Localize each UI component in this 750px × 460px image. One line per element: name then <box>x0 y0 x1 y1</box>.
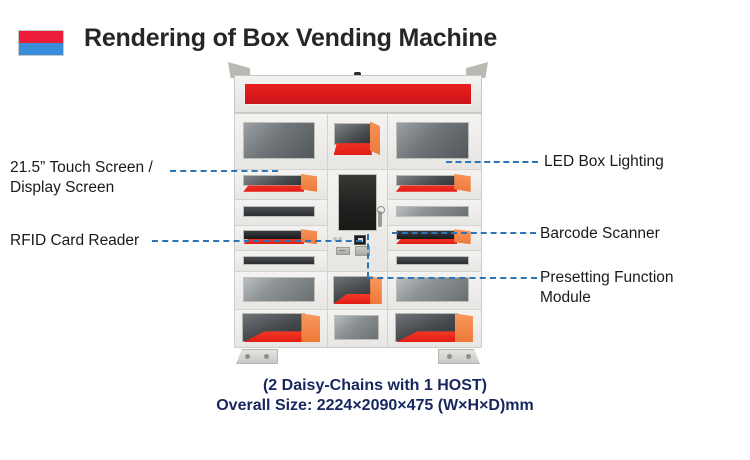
locker-cell <box>388 310 481 347</box>
locker-cell <box>388 251 481 272</box>
leader-line-rfid <box>152 240 362 242</box>
locker-cell <box>235 200 327 226</box>
locker-window <box>396 122 469 159</box>
locker-column-center <box>328 114 387 347</box>
drawer-glass <box>243 230 304 240</box>
drawer-side <box>301 174 317 192</box>
locker-cell <box>235 226 327 252</box>
locker-window <box>243 122 315 159</box>
locker-column-right <box>388 114 481 347</box>
locker-window <box>334 315 379 340</box>
callout-touch-screen: 21.5” Touch Screen / Display Screen <box>10 158 153 198</box>
machine-banner <box>244 83 472 105</box>
drawer-glass <box>396 175 457 187</box>
locker-cell <box>388 226 481 252</box>
locker-cell <box>328 114 386 170</box>
callout-led-box-lighting: LED Box Lighting <box>544 152 664 172</box>
rfid-card-reader-pad[interactable] <box>336 247 350 255</box>
locker-open-box <box>333 276 382 304</box>
leader-line-led <box>446 161 538 163</box>
machine-foot-right <box>438 349 480 364</box>
locker-open-drawer <box>396 175 471 194</box>
locker-cabinet <box>234 113 482 348</box>
leader-line-barcode <box>392 232 536 234</box>
drawer-side <box>370 121 380 155</box>
leader-line-touch-screen <box>170 170 278 172</box>
locker-cell <box>235 251 327 272</box>
box-side <box>370 276 382 304</box>
machine-foot-left <box>236 349 278 364</box>
drawer-tray <box>396 239 457 244</box>
locker-column-left <box>235 114 328 347</box>
callout-rfid-card-reader: RFID Card Reader <box>10 231 139 251</box>
drawer-glass <box>243 175 304 187</box>
drawer-side <box>454 174 470 192</box>
leader-line-presetting <box>367 277 537 279</box>
locker-window <box>243 277 315 302</box>
locker-open-drawer <box>243 175 317 194</box>
drawer-tray <box>243 185 304 191</box>
locker-window <box>396 277 469 302</box>
locker-open-drawer <box>243 230 317 246</box>
locker-window <box>396 256 469 265</box>
slide-canvas: Rendering of Box Vending Machine <box>0 0 750 460</box>
logo-band-red <box>19 31 63 43</box>
locker-cell <box>388 170 481 200</box>
locker-cell <box>235 170 327 200</box>
locker-window <box>396 206 469 217</box>
drawer-tray <box>396 185 457 191</box>
drawer-tray <box>334 143 372 155</box>
page-title: Rendering of Box Vending Machine <box>84 24 497 53</box>
locker-window <box>243 256 315 265</box>
leader-line-presetting-vertical <box>367 234 369 278</box>
locker-cell <box>388 200 481 226</box>
locker-window <box>243 206 315 217</box>
locker-cell <box>235 114 327 170</box>
touch-screen-display[interactable] <box>338 174 377 231</box>
control-panel <box>328 170 386 273</box>
locker-cell <box>328 310 386 347</box>
locker-cell <box>235 310 327 347</box>
door-handle[interactable] <box>378 211 382 227</box>
locker-cell <box>235 272 327 309</box>
brand-logo-icon <box>18 30 64 56</box>
callout-presetting-function-module: Presetting Function Module <box>540 268 674 308</box>
locker-open-box <box>395 313 474 342</box>
machine-header-panel <box>234 75 482 113</box>
box-side <box>301 313 320 342</box>
locker-open-drawer <box>334 123 380 158</box>
logo-band-blue <box>19 43 63 55</box>
caption-line-2: Overall Size: 2224×2090×475 (W×H×D)mm <box>0 394 750 417</box>
locker-open-box <box>242 313 320 342</box>
vending-machine-image <box>228 62 488 364</box>
callout-barcode-scanner: Barcode Scanner <box>540 224 660 244</box>
box-side <box>455 313 474 342</box>
drawer-glass <box>334 123 372 145</box>
